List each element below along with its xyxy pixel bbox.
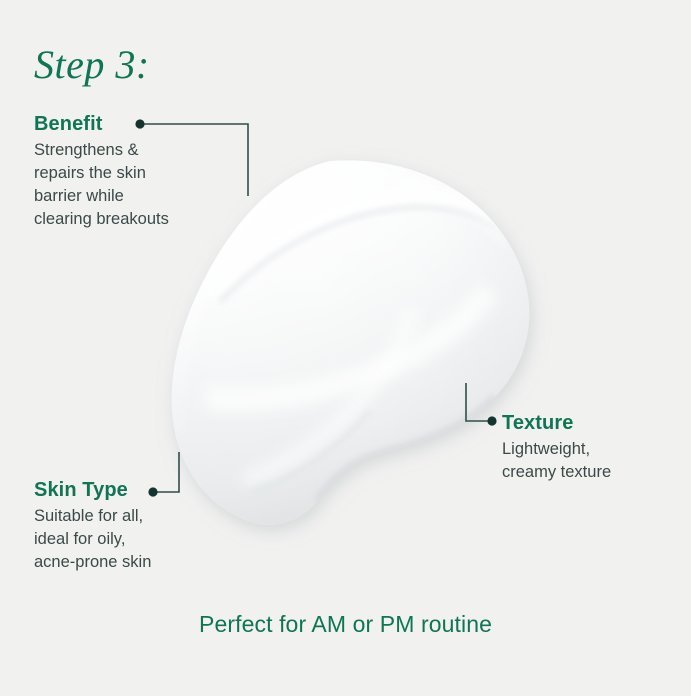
callout-benefit: Benefit Strengthens & repairs the skin b… [34,112,169,231]
callout-benefit-body: Strengthens & repairs the skin barrier w… [34,139,169,231]
callout-texture-body: Lightweight, creamy texture [502,438,611,484]
callout-skin-type-body: Suitable for all, ideal for oily, acne-p… [34,505,151,574]
product-step-card: Step 3: [0,0,691,691]
callout-texture: Texture Lightweight, creamy texture [502,411,611,484]
leader-line-texture [466,383,497,426]
callout-skin-type-heading: Skin Type [34,478,151,502]
callout-texture-heading: Texture [502,411,611,435]
callout-leader-lines [0,0,691,691]
callout-skin-type: Skin Type Suitable for all, ideal for oi… [34,478,151,574]
callout-benefit-heading: Benefit [34,112,169,136]
footer-note: Perfect for AM or PM routine [0,608,691,640]
leader-line-skin-type [148,452,179,497]
